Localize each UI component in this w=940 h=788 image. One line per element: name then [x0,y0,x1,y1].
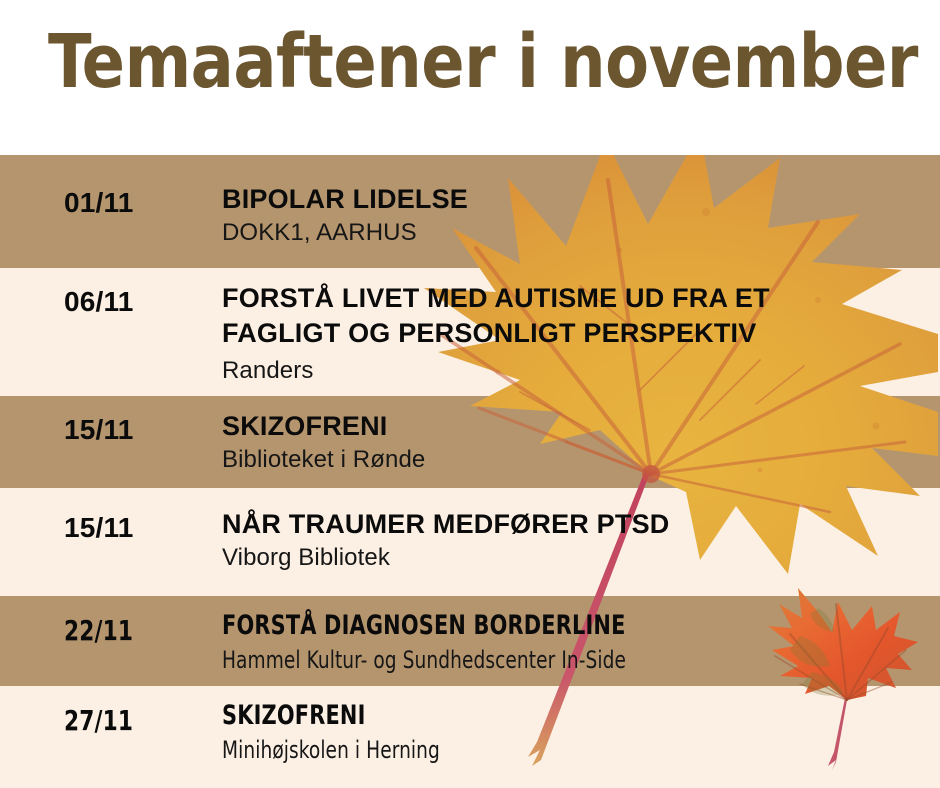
event-title: FORSTÅ DIAGNOSEN BORDERLINE [222,609,626,644]
event-date: 15/11 [64,512,134,544]
event-date: 27/11 [64,704,133,737]
event-venue: DOKK1, AARHUS [222,219,417,247]
event-date: 15/11 [64,414,134,446]
poster-canvas: Temaaftener i november 01/11 BIPOLAR LID… [0,0,940,788]
event-date: 22/11 [64,614,133,647]
event-venue: Biblioteket i Rønde [222,446,425,474]
page-title: Temaaftener i november [48,25,918,99]
event-date: 06/11 [64,286,134,318]
event-venue: Hammel Kultur- og Sundhedscenter In-Side [222,646,626,674]
event-venue: Randers [222,357,313,385]
event-row[interactable]: 15/11 NÅR TRAUMER MEDFØRER PTSD Viborg B… [0,488,940,596]
event-row[interactable]: 01/11 BIPOLAR LIDELSE DOKK1, AARHUS [0,155,940,268]
event-title: SKIZOFRENI [222,409,388,444]
event-row[interactable]: 06/11 FORSTÅ LIVET MED AUTISME UD FRA ET… [0,268,940,396]
event-row[interactable]: 22/11 FORSTÅ DIAGNOSEN BORDERLINE Hammel… [0,596,940,686]
event-title: BIPOLAR LIDELSE [222,182,468,217]
event-row[interactable]: 27/11 SKIZOFRENI Minihøjskolen i Herning [0,686,940,788]
event-venue: Viborg Bibliotek [222,544,390,572]
event-title: FORSTÅ LIVET MED AUTISME UD FRA ET FAGLI… [222,281,770,350]
poster-header: Temaaftener i november [0,0,940,155]
event-title: SKIZOFRENI [222,699,366,734]
event-title: NÅR TRAUMER MEDFØRER PTSD [222,507,670,542]
event-date: 01/11 [64,187,134,219]
event-venue: Minihøjskolen i Herning [222,736,440,764]
event-row[interactable]: 15/11 SKIZOFRENI Biblioteket i Rønde [0,396,940,488]
